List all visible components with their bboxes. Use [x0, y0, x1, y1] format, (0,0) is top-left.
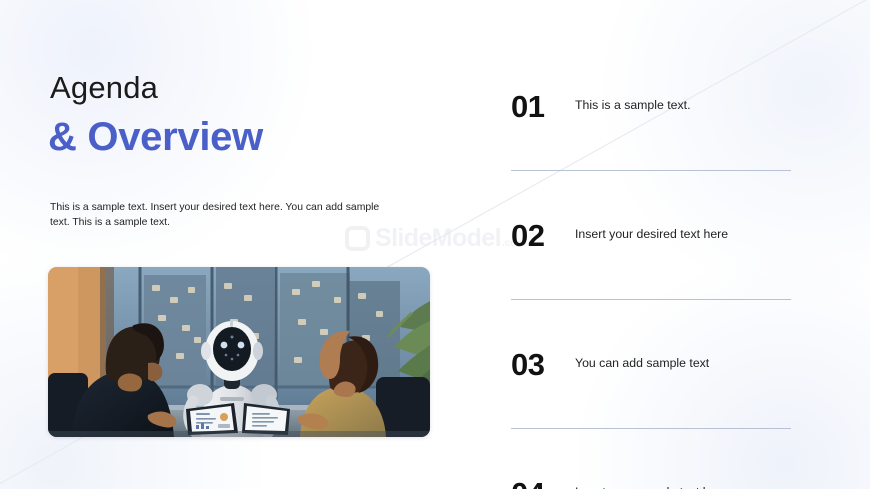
body-paragraph: This is a sample text. Insert your desir… — [50, 200, 380, 231]
page-title-primary: Agenda — [50, 72, 158, 103]
list-item[interactable]: 02 Insert your desired text here — [511, 213, 791, 257]
spacer — [511, 300, 791, 342]
list-item[interactable]: 01 This is a sample text. — [511, 84, 791, 128]
meeting-photo-illustration — [48, 267, 430, 437]
agenda-item-label: Insert your sample text here — [575, 485, 727, 489]
agenda-list: 01 This is a sample text. 02 Insert your… — [511, 84, 791, 489]
agenda-item-number: 04 — [511, 478, 575, 489]
spacer — [511, 171, 791, 213]
meeting-photo — [48, 267, 430, 437]
agenda-item-number: 02 — [511, 220, 575, 251]
agenda-item-number: 01 — [511, 91, 575, 122]
agenda-item-number: 03 — [511, 349, 575, 380]
presentation-slide: Agenda & Overview This is a sample text.… — [0, 0, 870, 489]
spacer — [511, 386, 791, 428]
spacer — [511, 128, 791, 170]
agenda-item-label: This is a sample text. — [575, 98, 691, 114]
agenda-item-label: Insert your desired text here — [575, 227, 728, 243]
spacer — [511, 257, 791, 299]
list-item[interactable]: 04 Insert your sample text here — [511, 471, 791, 489]
spacer — [511, 429, 791, 471]
page-title-accent: & Overview — [48, 117, 263, 157]
list-item[interactable]: 03 You can add sample text — [511, 342, 791, 386]
agenda-item-label: You can add sample text — [575, 356, 709, 372]
watermark-brand: SlideModel — [375, 226, 501, 251]
